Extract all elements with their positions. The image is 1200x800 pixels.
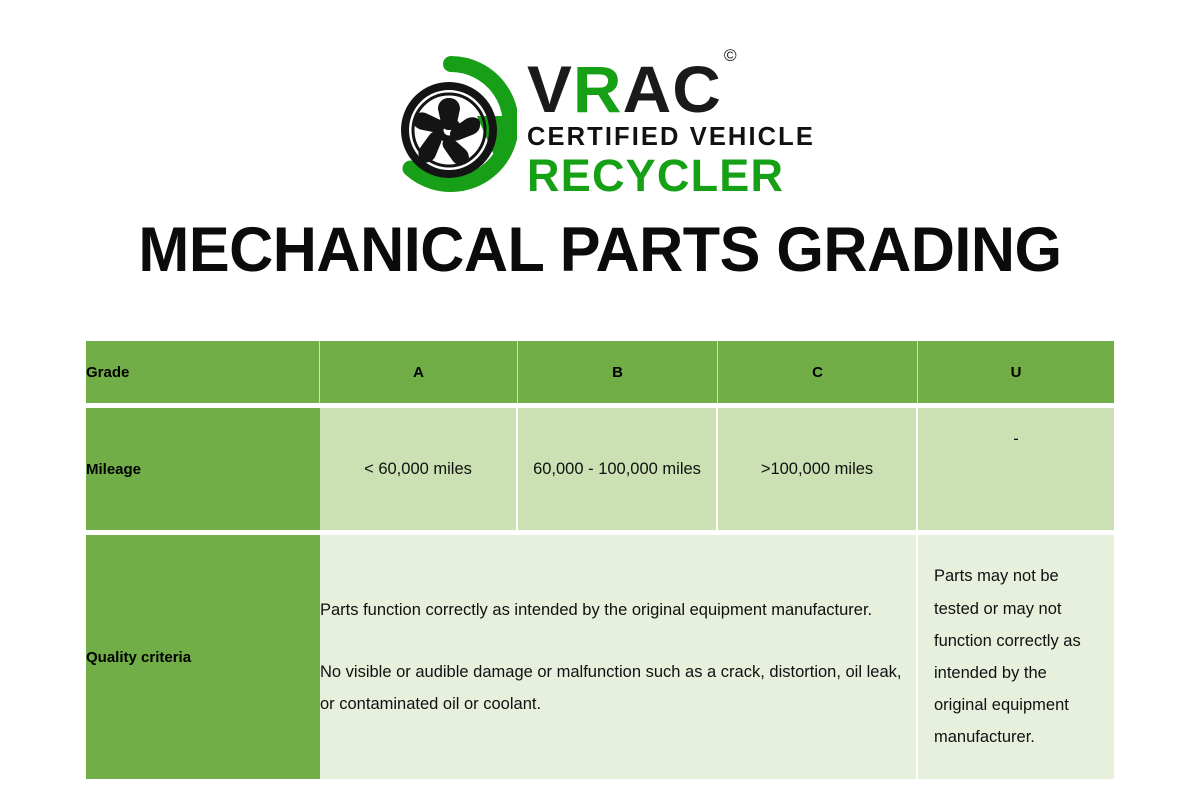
cell-quality-abc: Parts function correctly as intended by … [320, 535, 918, 779]
logo-ac: AC [623, 52, 722, 126]
row-label-quality-criteria: Quality criteria [86, 535, 320, 779]
page-title: MECHANICAL PARTS GRADING [18, 216, 1182, 284]
logo-wordmark: VRAC© CERTIFIED VEHICLE RECYCLER [527, 56, 815, 198]
cell-quality-abc-para1: Parts function correctly as intended by … [320, 594, 916, 626]
cell-mileage-b: 60,000 - 100,000 miles [518, 408, 718, 530]
copyright-icon: © [724, 46, 737, 65]
header-cell-grade-c: C [718, 341, 918, 403]
header-cell-grade-b: B [518, 341, 718, 403]
logo-tagline: CERTIFIED VEHICLE [527, 125, 815, 151]
logo-recycler-text: RECYCLER [527, 153, 784, 198]
logo-v: V [527, 52, 573, 126]
cell-mileage-u: - [918, 408, 1114, 530]
header-cell-grade: Grade [86, 341, 320, 403]
logo-r: R [573, 52, 623, 126]
table-header-row: Grade A B C U [86, 341, 1114, 403]
table-row-quality-criteria: Quality criteria Parts function correctl… [86, 535, 1114, 779]
row-label-mileage: Mileage [86, 408, 320, 530]
logo-inner: VRAC© CERTIFIED VEHICLE RECYCLER [385, 56, 815, 198]
recycling-arrow-wheel-icon [385, 56, 517, 198]
cell-quality-abc-para2: No visible or audible damage or malfunct… [320, 656, 916, 720]
logo-vrac-text: VRAC© [527, 56, 735, 122]
mechanical-parts-grading-table: Grade A B C U Mileage < 60,000 miles 60,… [86, 341, 1114, 779]
header-cell-grade-u: U [918, 341, 1114, 403]
cell-quality-u: Parts may not be tested or may not funct… [918, 535, 1114, 779]
header-cell-grade-a: A [320, 341, 518, 403]
cell-mileage-c: >100,000 miles [718, 408, 918, 530]
cell-mileage-a: < 60,000 miles [320, 408, 518, 530]
table-row-mileage: Mileage < 60,000 miles 60,000 - 100,000 … [86, 408, 1114, 530]
brand-logo: VRAC© CERTIFIED VEHICLE RECYCLER [0, 52, 1200, 202]
